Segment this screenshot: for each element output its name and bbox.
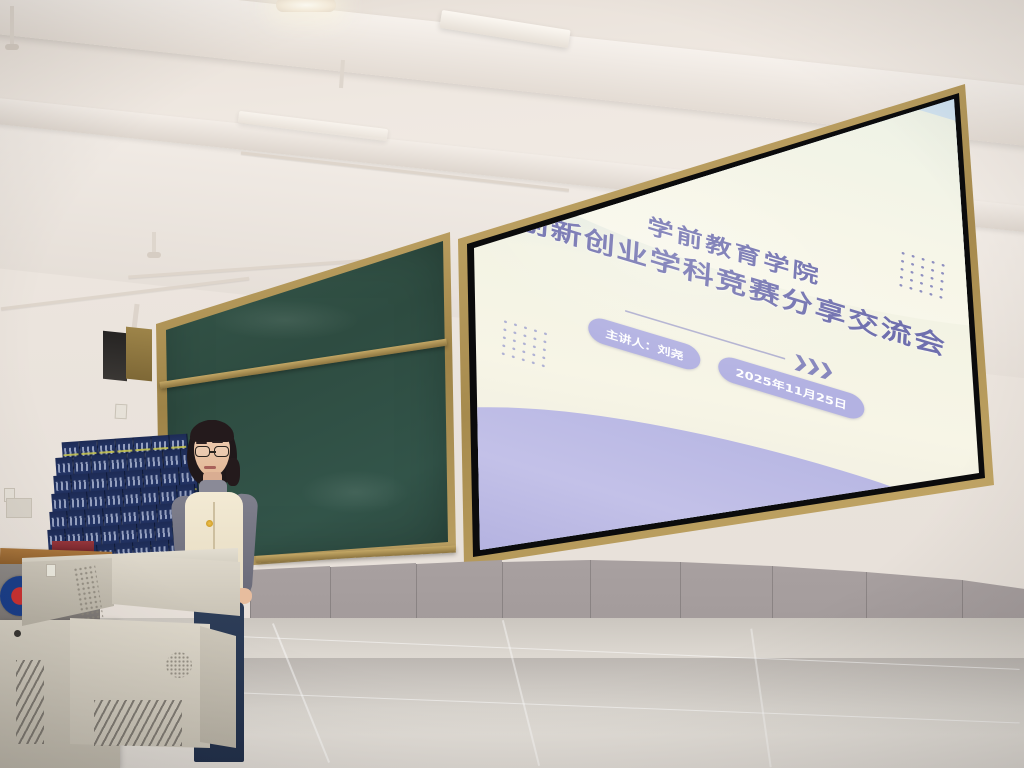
presenter-glasses [195,446,231,458]
glasses-bridge [210,451,216,453]
presenter-hair-front [190,420,234,442]
presenter-brow-right [212,441,223,443]
glasses-lens-left [195,446,210,457]
lectern [0,548,250,768]
lectern-front-face [112,554,240,620]
presenter-hair-side [226,458,240,486]
lectern-vent-slats [94,700,182,746]
presenter-brow-left [196,442,207,444]
lectern-right-side [200,626,236,748]
lectern-label-sticker [46,564,56,577]
classroom-photo-scene: 学前教育学院 创新创业学科竞赛分享交流会 ❯❯❯ 主讲人：刘尧 2025年11月… [0,0,1024,768]
lectern-speaker-grille [166,652,192,678]
presenter-lapel-pin [206,520,213,527]
glasses-lens-right [214,446,229,457]
presenter-mouth [204,466,216,469]
